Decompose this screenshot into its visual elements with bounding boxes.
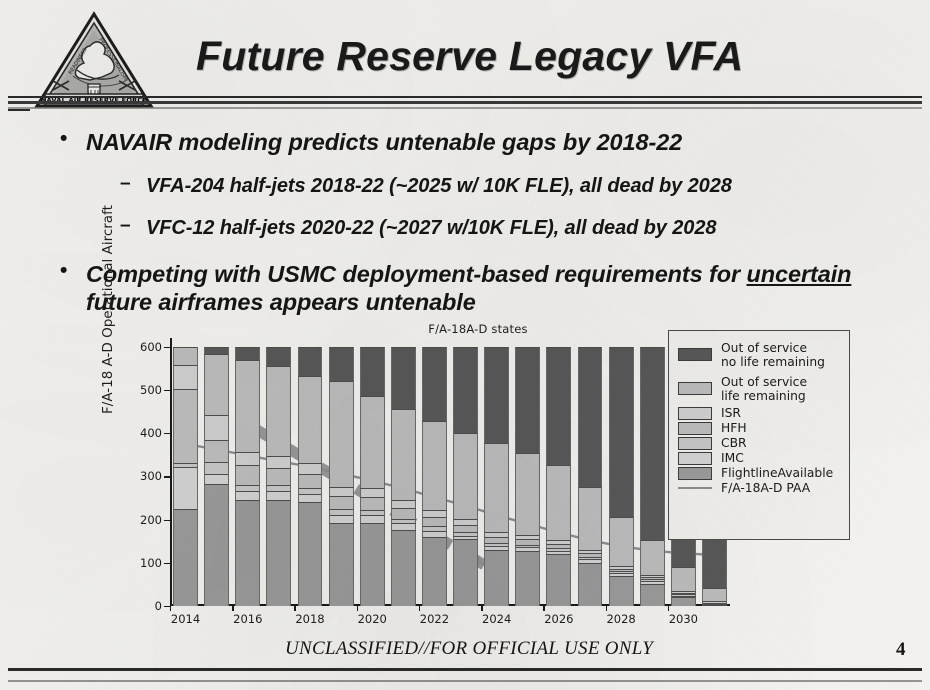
bullet-text-before: Competing with USMC deployment-based req…: [86, 261, 747, 287]
chart-bar-segment: [391, 508, 416, 519]
chart-bar-segment: [609, 517, 634, 567]
chart-bar-segment: [266, 366, 291, 456]
chart-bar-segment: [235, 465, 260, 484]
bullet-text-after: future airframes appears untenable: [86, 289, 476, 315]
chart-bar-segment: [391, 523, 416, 530]
bullet-marker-icon: •: [60, 260, 86, 281]
chart-bar-segment: [484, 347, 509, 443]
chart-bar: [484, 347, 509, 606]
chart-bar-segment: [484, 546, 509, 549]
legend-item-label: IMC: [721, 451, 744, 465]
legend-item-label: HFH: [721, 421, 747, 435]
legend-item-label: FlightlineAvailable: [721, 466, 833, 480]
x-axis-tick: [232, 606, 233, 611]
legend-swatch-icon: [678, 437, 712, 450]
chart-bar-segment: [702, 605, 727, 606]
chart-bar-segment: [235, 452, 260, 465]
bullet-item-vfa204: – VFA-204 half-jets 2018-22 (~2025 w/ 10…: [120, 174, 732, 199]
slide-header: NAVAL AIR RESERVE FORCE READINESS PROFES…: [0, 0, 930, 118]
chart-bar-segment: [391, 500, 416, 508]
chart-bar-segment: [671, 593, 696, 595]
chart-bar-segment: [391, 347, 416, 410]
chart-bar-segment: [546, 540, 571, 543]
chart-bar-segment: [640, 581, 665, 584]
chart-bar-segment: [515, 347, 540, 453]
y-axis-tick: [164, 433, 170, 434]
slide-footer: UNCLASSIFIED//FOR OFFICIAL USE ONLY 4: [0, 636, 930, 690]
y-axis-tick: [164, 390, 170, 391]
chart-bar-segment: [578, 563, 603, 606]
chart-bar-segment: [546, 554, 571, 606]
y-axis-tick-label: 0: [155, 599, 162, 613]
chart-bar-segment: [578, 550, 603, 553]
chart-bar-segment: [360, 396, 385, 488]
chart-bar-segment: [453, 519, 478, 525]
header-rule-bottom: [8, 107, 922, 109]
x-axis-tick: [170, 606, 171, 611]
chart-bar-segment: [453, 347, 478, 433]
chart-bar-segment: [515, 547, 540, 550]
chart-bar: [515, 347, 540, 606]
y-axis-tick-label: 400: [140, 426, 162, 440]
chart-bar-segment: [391, 409, 416, 500]
chart-bar-segment: [266, 485, 291, 491]
chart-bar-segment: [422, 510, 447, 517]
bullet-list: • NAVAIR modeling predicts untenable gap…: [0, 120, 930, 320]
chart-bar-segment: [578, 487, 603, 550]
legend-swatch-icon: [678, 407, 712, 420]
header-rule-top: [8, 96, 922, 98]
chart-bar-segment: [422, 537, 447, 606]
chart-bar-segment: [329, 509, 354, 515]
legend-item-label: Out of service no life remaining: [721, 341, 825, 369]
chart-bar-segment: [298, 502, 323, 606]
chart-bar-segment: [515, 551, 540, 606]
chart-bar-segment: [173, 509, 198, 606]
chart-bar-segment: [484, 443, 509, 532]
chart-bar-segment: [391, 519, 416, 523]
paa-line-path: [186, 444, 715, 555]
chart-bar-segment: [298, 463, 323, 474]
chart-bar-segment: [578, 559, 603, 562]
chart-bar-segment: [298, 474, 323, 488]
chart-bar-segment: [453, 525, 478, 532]
bullet-text-composite: Competing with USMC deployment-based req…: [86, 260, 876, 316]
chart-bar-segment: [702, 603, 727, 604]
chart-bar-segment: [422, 531, 447, 537]
x-axis-tick-label: 2022: [420, 612, 449, 626]
x-axis-tick-label: 2018: [295, 612, 324, 626]
chart-bar-segment: [235, 500, 260, 606]
chart-bar: [546, 347, 571, 606]
chart-bar-segment: [609, 569, 634, 572]
chart-bar-segment: [391, 530, 416, 606]
legend-item[interactable]: Out of service life remaining: [678, 372, 841, 405]
chart-bar-segment: [266, 500, 291, 606]
chart-bar-segment: [204, 440, 229, 462]
chart-bar-segment: [422, 526, 447, 530]
bullet-marker-icon: •: [60, 128, 86, 149]
chart-bar-segment: [546, 465, 571, 541]
chart-bar-segment: [609, 576, 634, 606]
chart-bar: [453, 347, 478, 606]
legend-swatch-icon: [678, 422, 712, 435]
legend-item[interactable]: CBR: [678, 436, 841, 450]
chart-bar-segment: [515, 545, 540, 548]
legend-item-label: ISR: [721, 406, 741, 420]
chart-fa18ad-states: F/A-18A-D states F/A-18 A-D Operational …: [108, 322, 848, 627]
x-axis-tick: [668, 606, 669, 611]
chart-bar-segment: [204, 462, 229, 474]
chart-bar-segment: [235, 485, 260, 491]
chart-bar: [298, 347, 323, 606]
legend-item[interactable]: F/A-18A-D PAA: [678, 481, 841, 495]
chart-bar-segment: [578, 557, 603, 560]
chart-bar-segment: [298, 376, 323, 462]
chart-bar-segment: [329, 515, 354, 523]
chart-bar-segment: [702, 604, 727, 605]
chart-bar: [266, 347, 291, 606]
chart-bar-segment: [360, 515, 385, 523]
chart-bar-segment: [484, 543, 509, 546]
chart-bar-segment: [266, 347, 291, 366]
bullet-text: VFA-204 half-jets 2018-22 (~2025 w/ 10K …: [146, 174, 732, 199]
chart-bar-segment: [609, 573, 634, 576]
y-axis-tick: [164, 476, 170, 477]
chart-bar: [609, 347, 634, 606]
chart-bar: [235, 347, 260, 606]
x-axis-tick: [419, 606, 420, 611]
chart-bar-segment: [266, 468, 291, 484]
chart-bar-segment: [671, 596, 696, 598]
chart-bar-segment: [546, 548, 571, 551]
legend-item[interactable]: FlightlineAvailable: [678, 466, 841, 480]
legend-item[interactable]: ISR: [678, 406, 841, 420]
classification-marking: UNCLASSIFIED//FOR OFFICIAL USE ONLY: [285, 638, 653, 660]
chart-bar-segment: [671, 567, 696, 591]
chart-bar-segment: [640, 347, 665, 541]
legend-swatch-icon: [678, 382, 712, 395]
chart-bar-segment: [671, 591, 696, 593]
chart-bar-segment: [422, 421, 447, 510]
y-axis-tick-label: 100: [140, 556, 162, 570]
chart-bar-segment: [329, 381, 354, 486]
chart-bar-segment: [204, 347, 229, 354]
chart-bar-segment: [266, 491, 291, 501]
chart-bar-segment: [453, 536, 478, 539]
chart-bar-segment: [578, 553, 603, 556]
legend-swatch-icon: [678, 452, 712, 465]
chart-bar-segment: [422, 347, 447, 422]
bullet-text: NAVAIR modeling predicts untenable gaps …: [86, 128, 682, 156]
y-axis-tick-label: 200: [140, 513, 162, 527]
chart-legend: Out of service no life remainingOut of s…: [668, 330, 850, 540]
chart-bar: [391, 347, 416, 606]
chart-bar-segment: [360, 510, 385, 515]
bullet-item-vfc12: – VFC-12 half-jets 2020-22 (~2027 w/10K …: [120, 216, 716, 241]
chart-bar-segment: [204, 415, 229, 441]
chart-bar: [578, 347, 603, 606]
legend-swatch-icon: [678, 348, 712, 361]
legend-line-icon: [678, 487, 712, 489]
chart-bar: [422, 347, 447, 606]
chart-bar-segment: [484, 537, 509, 543]
legend-item-label: Out of service life remaining: [721, 375, 807, 403]
chart-bar-segment: [298, 494, 323, 503]
chart-bar-segment: [298, 488, 323, 494]
chart-bar-segment: [515, 539, 540, 544]
y-axis-tick-label: 300: [140, 469, 162, 483]
chart-bar-segment: [453, 532, 478, 535]
y-axis-tick-label: 600: [140, 340, 162, 354]
chart-bar-segment: [329, 347, 354, 382]
chart-bar-segment: [173, 389, 198, 463]
chart-bar-segment: [360, 347, 385, 397]
x-axis-tick: [606, 606, 607, 611]
chart-bar-segment: [515, 453, 540, 535]
chart-bar-segment: [360, 497, 385, 510]
x-axis-tick-label: 2024: [482, 612, 511, 626]
legend-item-label: F/A-18A-D PAA: [721, 481, 810, 495]
x-axis-tick-label: 2014: [171, 612, 200, 626]
chart-bar-segment: [609, 571, 634, 573]
legend-item-label: CBR: [721, 436, 747, 450]
chart-bar-segment: [640, 584, 665, 606]
chart-bar-segment: [173, 365, 198, 389]
chart-bar-segment: [173, 347, 198, 365]
chart-bar: [640, 347, 665, 606]
chart-bar-segment: [671, 597, 696, 606]
chart-bar-segment: [609, 566, 634, 569]
chart-bar-segment: [515, 535, 540, 539]
chart-plot-area: 0100200300400500600201420162018202020222…: [170, 338, 730, 606]
chart-bar: [204, 347, 229, 606]
bullet-text-emphasis: uncertain: [747, 261, 852, 287]
chart-bar-segment: [173, 463, 198, 467]
chart-bar-segment: [671, 594, 696, 595]
chart-bar-segment: [329, 487, 354, 497]
chart-bar: [329, 347, 354, 606]
x-axis-tick-label: 2020: [358, 612, 387, 626]
chart-y-axis-label: F/A-18 A-D Operational Aircraft: [100, 205, 116, 414]
legend-item[interactable]: HFH: [678, 421, 841, 435]
chart-bar: [360, 347, 385, 606]
y-axis-tick: [164, 563, 170, 564]
chart-bar-segment: [453, 539, 478, 606]
chart-bar-segment: [266, 456, 291, 468]
chart-bar-segment: [204, 484, 229, 606]
x-axis-tick: [294, 606, 295, 611]
legend-item[interactable]: IMC: [678, 451, 841, 465]
chart-bar-segment: [360, 523, 385, 606]
chart-bar-segment: [422, 517, 447, 527]
x-axis-tick-label: 2028: [606, 612, 635, 626]
x-axis-tick: [543, 606, 544, 611]
chart-bar-segment: [235, 347, 260, 360]
chart-bar-segment: [173, 467, 198, 508]
y-axis-tick: [164, 347, 170, 348]
chart-bar-segment: [484, 532, 509, 537]
chart-bar-segment: [640, 540, 665, 575]
chart-bar: [173, 347, 198, 606]
footer-rule-top: [8, 668, 922, 671]
page-title: Future Reserve Legacy VFA: [196, 33, 796, 80]
chart-bar-segment: [235, 360, 260, 453]
chart-bar-segment: [546, 347, 571, 465]
header-rule-mid: [8, 101, 922, 104]
x-axis-tick-label: 2030: [669, 612, 698, 626]
chart-bar-segment: [204, 474, 229, 484]
legend-swatch-icon: [678, 467, 712, 480]
bullet-text: VFC-12 half-jets 2020-22 (~2027 w/10K FL…: [146, 216, 716, 241]
chart-bar-segment: [453, 433, 478, 519]
x-axis-tick: [481, 606, 482, 611]
footer-rule-bottom: [8, 680, 922, 682]
chart-bar-segment: [329, 496, 354, 509]
legend-item[interactable]: Out of service no life remaining: [678, 338, 841, 371]
y-axis-tick: [164, 520, 170, 521]
naval-air-reserve-force-seal-icon: NAVAL AIR RESERVE FORCE READINESS PROFES…: [33, 10, 155, 110]
chart-bar-segment: [484, 550, 509, 606]
dash-marker-icon: –: [120, 216, 146, 235]
chart-bar-segment: [329, 523, 354, 606]
chart-bar-segment: [640, 579, 665, 581]
chart-bar-segment: [204, 354, 229, 415]
chart-bar-segment: [360, 488, 385, 497]
chart-bar-segment: [578, 347, 603, 487]
chart-bar-segment: [702, 588, 727, 601]
y-axis-tick-label: 500: [140, 383, 162, 397]
bullet-item-competing: • Competing with USMC deployment-based r…: [60, 260, 876, 316]
chart-bar-segment: [546, 544, 571, 548]
chart-bar-segment: [609, 347, 634, 517]
bullet-item-navair: • NAVAIR modeling predicts untenable gap…: [60, 128, 682, 156]
chart-bar-segment: [235, 491, 260, 501]
chart-bar-segment: [640, 575, 665, 577]
chart-bar-segment: [546, 551, 571, 554]
chart-bar-segment: [640, 577, 665, 580]
x-axis-tick-label: 2016: [233, 612, 262, 626]
chart-bar-segment: [702, 601, 727, 602]
chart-bar-segment: [298, 347, 323, 376]
x-axis-tick-label: 2026: [544, 612, 573, 626]
dash-marker-icon: –: [120, 174, 146, 193]
page-number: 4: [896, 639, 906, 661]
x-axis-tick: [357, 606, 358, 611]
y-axis-line: [170, 338, 172, 606]
